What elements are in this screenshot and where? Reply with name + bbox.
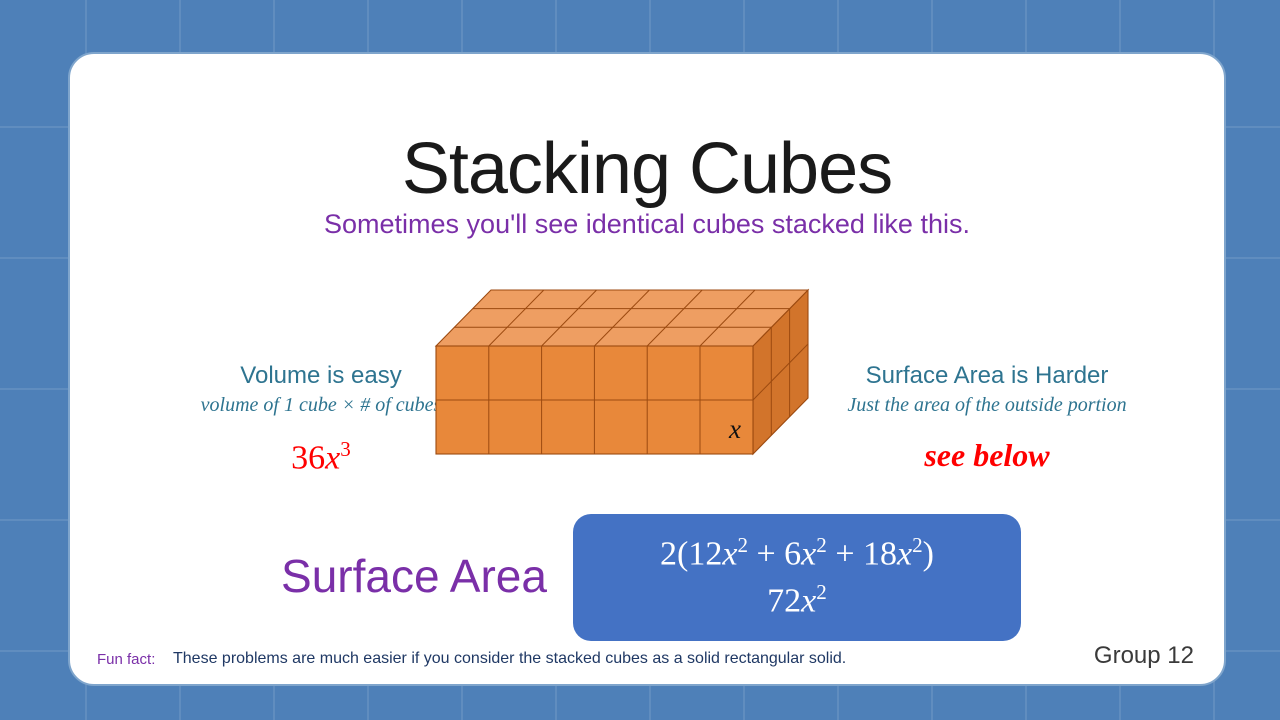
group-tag: Group 12 [1094,642,1194,670]
volume-answer-variable: x [325,439,340,476]
formula-exp-3: 2 [912,533,923,557]
formula-op-2: + 18 [827,536,897,573]
surface-area-heading: Surface Area [239,549,589,603]
slide-canvas: Stacking Cubes Sometimes you'll see iden… [0,0,1280,720]
volume-answer-coefficient: 36 [291,439,325,476]
result-variable: x [801,582,816,619]
footer: Fun fact: These problems are much easier… [70,646,1224,686]
formula-prefix: 2(12 [660,536,722,573]
formula-line-expanded: 2(12x2 + 6x2 + 18x2) [660,531,934,577]
cube-edge-label-x: x [729,414,741,445]
volume-answer-exponent: 3 [340,437,351,461]
result-coefficient: 72 [767,582,801,619]
page-title: Stacking Cubes [70,128,1224,210]
formula-var-2: x [801,536,816,573]
slide-subtitle: Sometimes you'll see identical cubes sta… [70,209,1224,240]
fun-fact-label: Fun fact: [97,651,155,668]
formula-var-1: x [722,536,737,573]
formula-line-result: 72x2 [767,578,827,624]
result-exponent: 2 [816,580,827,604]
stacked-cubes-svg [425,278,820,468]
surface-area-formula-box: 2(12x2 + 6x2 + 18x2) 72x2 [573,514,1021,641]
formula-exp-1: 2 [737,533,748,557]
formula-op-1: + 6 [748,536,801,573]
stacked-cubes-diagram [425,278,820,468]
formula-exp-2: 2 [816,533,827,557]
formula-suffix: ) [923,536,934,573]
formula-var-3: x [897,536,912,573]
fun-fact-text: These problems are much easier if you co… [173,650,846,668]
